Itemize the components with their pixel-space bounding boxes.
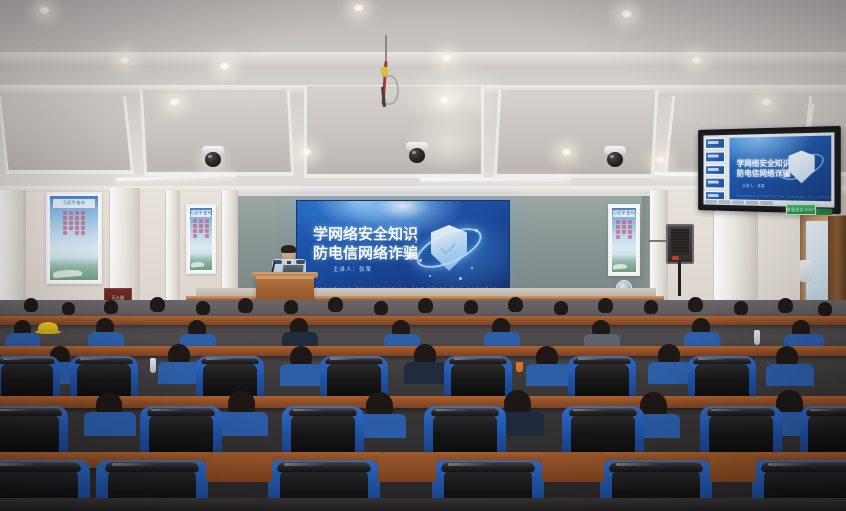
audience-head bbox=[238, 298, 253, 313]
audience-torso bbox=[404, 362, 448, 384]
wall-lamp bbox=[800, 260, 812, 282]
audience-seating-area bbox=[0, 300, 846, 511]
slide-title-line1: 学网络安全知识 bbox=[313, 225, 431, 244]
desk-surface bbox=[542, 452, 604, 482]
display-title-line1: 学网络安全知识 bbox=[737, 159, 791, 169]
audience-head bbox=[196, 301, 210, 315]
audience-head bbox=[508, 297, 523, 312]
poster-heading: 习近平金句 bbox=[63, 200, 86, 206]
desk-surface bbox=[710, 452, 756, 482]
display-title-line2: 防电信网络诈骗 bbox=[737, 169, 791, 179]
slide-thumbnail[interactable] bbox=[705, 151, 725, 162]
slide-thumbnail[interactable] bbox=[705, 165, 725, 175]
exit-sign-label: 安全出口 EXIT bbox=[787, 207, 816, 213]
auditorium-seat[interactable] bbox=[688, 356, 756, 400]
audience-torso bbox=[216, 412, 268, 436]
wall-poster-left-2: 习近平金句 bbox=[186, 204, 216, 274]
display-slide: 学网络安全知识 防电信网络诈骗 主讲人：张某 Standard presenta… bbox=[729, 136, 831, 205]
audience-torso bbox=[648, 362, 692, 384]
slide-subtitle: 主讲人：张某 bbox=[333, 265, 372, 273]
audience-head bbox=[554, 301, 568, 315]
audience-head bbox=[418, 298, 433, 313]
ceiling-downlight bbox=[300, 148, 313, 157]
ceiling-downlight bbox=[218, 62, 231, 71]
taskbar-item[interactable] bbox=[746, 201, 758, 205]
ceiling-downlight bbox=[118, 56, 131, 65]
audience-head bbox=[104, 300, 118, 314]
ceiling-downlight bbox=[760, 98, 773, 107]
desk-row bbox=[0, 316, 846, 325]
ceiling-light-strip bbox=[116, 174, 236, 181]
ceiling-coffer-panel bbox=[494, 90, 659, 178]
speaker-mount-arm bbox=[648, 240, 668, 242]
wall-mounted-display[interactable]: 学网络安全知识 防电信网络诈骗 主讲人：张某 Standard presenta… bbox=[698, 126, 841, 214]
slide-title-line2: 防电信网络诈骗 bbox=[313, 244, 431, 263]
auditorium-seat[interactable] bbox=[196, 356, 264, 400]
ceiling-downlight bbox=[560, 148, 573, 157]
auditorium-seat[interactable] bbox=[444, 356, 512, 400]
ceiling-downlight bbox=[654, 156, 667, 165]
orange-cup bbox=[516, 362, 523, 372]
water-bottle bbox=[754, 330, 760, 345]
water-bottle bbox=[150, 358, 156, 373]
auditorium-photo: 习近平金句 习近平金句 习近平金句 bbox=[0, 0, 846, 511]
desk-surface bbox=[206, 452, 272, 482]
dome-camera-icon bbox=[406, 142, 428, 168]
audience-head bbox=[818, 302, 832, 316]
display-screen: 学网络安全知识 防电信网络诈骗 主讲人：张某 Standard presenta… bbox=[703, 132, 834, 207]
ceiling-coffer-panel bbox=[0, 96, 134, 174]
slide-thumbnail[interactable] bbox=[705, 138, 725, 149]
poster-verse bbox=[192, 219, 210, 252]
slide-thumbnail-rail[interactable] bbox=[703, 135, 726, 205]
ceiling-downlight bbox=[352, 4, 365, 13]
audience-head bbox=[644, 300, 658, 314]
audience-head bbox=[284, 300, 298, 314]
ceiling-light-strip bbox=[420, 178, 570, 181]
yellow-hard-hat bbox=[38, 322, 58, 334]
poster-verse bbox=[55, 211, 93, 256]
audience-torso bbox=[84, 412, 136, 436]
audience-head bbox=[464, 300, 478, 314]
audience-head bbox=[374, 301, 388, 315]
ceiling-downlight bbox=[620, 10, 633, 19]
audience-torso bbox=[280, 364, 324, 386]
display-slide-footer: Standard presentation template for teach… bbox=[737, 195, 831, 200]
emergency-exit-sign: 安全出口 EXIT bbox=[786, 204, 816, 215]
slide-title: 学网络安全知识 防电信网络诈骗 bbox=[313, 225, 431, 263]
audience-head bbox=[328, 297, 343, 312]
audience-torso bbox=[526, 364, 570, 386]
wall-poster-left-1: 习近平金句 bbox=[46, 192, 102, 284]
audience-torso bbox=[766, 364, 814, 386]
audience-head bbox=[734, 301, 748, 315]
auditorium-seat[interactable] bbox=[568, 356, 636, 400]
wall-speaker-box bbox=[666, 224, 694, 264]
dome-camera-icon bbox=[604, 146, 626, 172]
display-slide-subtitle: 主讲人：张某 bbox=[742, 183, 765, 188]
audience-head bbox=[598, 298, 613, 313]
ceiling-downlight bbox=[168, 98, 181, 107]
slide-thumbnail[interactable] bbox=[705, 178, 725, 189]
taskbar-item[interactable] bbox=[760, 201, 773, 205]
display-slide-title: 学网络安全知识 防电信网络诈骗 bbox=[737, 159, 791, 179]
poster-heading: 习近平金句 bbox=[613, 210, 636, 216]
auditorium-seat[interactable] bbox=[0, 356, 60, 400]
poster-heading: 习近平金句 bbox=[190, 210, 213, 216]
floor bbox=[0, 498, 846, 511]
taskbar-item[interactable] bbox=[705, 200, 717, 204]
audience-head bbox=[778, 298, 793, 313]
main-projection-screen[interactable]: 学网络安全知识 防电信网络诈骗 主讲人：张某 Standard presenta… bbox=[296, 200, 510, 300]
poster-verse bbox=[614, 220, 633, 255]
desk-surface bbox=[378, 452, 436, 482]
audience-head bbox=[24, 298, 38, 312]
wall-poster-right-1: 习近平金句 bbox=[608, 204, 640, 276]
ceiling-downlight bbox=[690, 56, 703, 65]
taskbar-item[interactable] bbox=[719, 200, 731, 204]
audience-head bbox=[150, 297, 165, 312]
audience-head bbox=[62, 302, 75, 315]
hanging-cable-bundle bbox=[372, 35, 402, 105]
dome-camera-icon bbox=[202, 146, 224, 172]
ceiling-downlight bbox=[38, 6, 51, 15]
speaker-stand-pole bbox=[678, 262, 681, 296]
presentation-slide: 学网络安全知识 防电信网络诈骗 主讲人：张某 Standard presenta… bbox=[297, 201, 509, 299]
taskbar-item[interactable] bbox=[732, 200, 744, 204]
audience-head bbox=[688, 297, 703, 312]
